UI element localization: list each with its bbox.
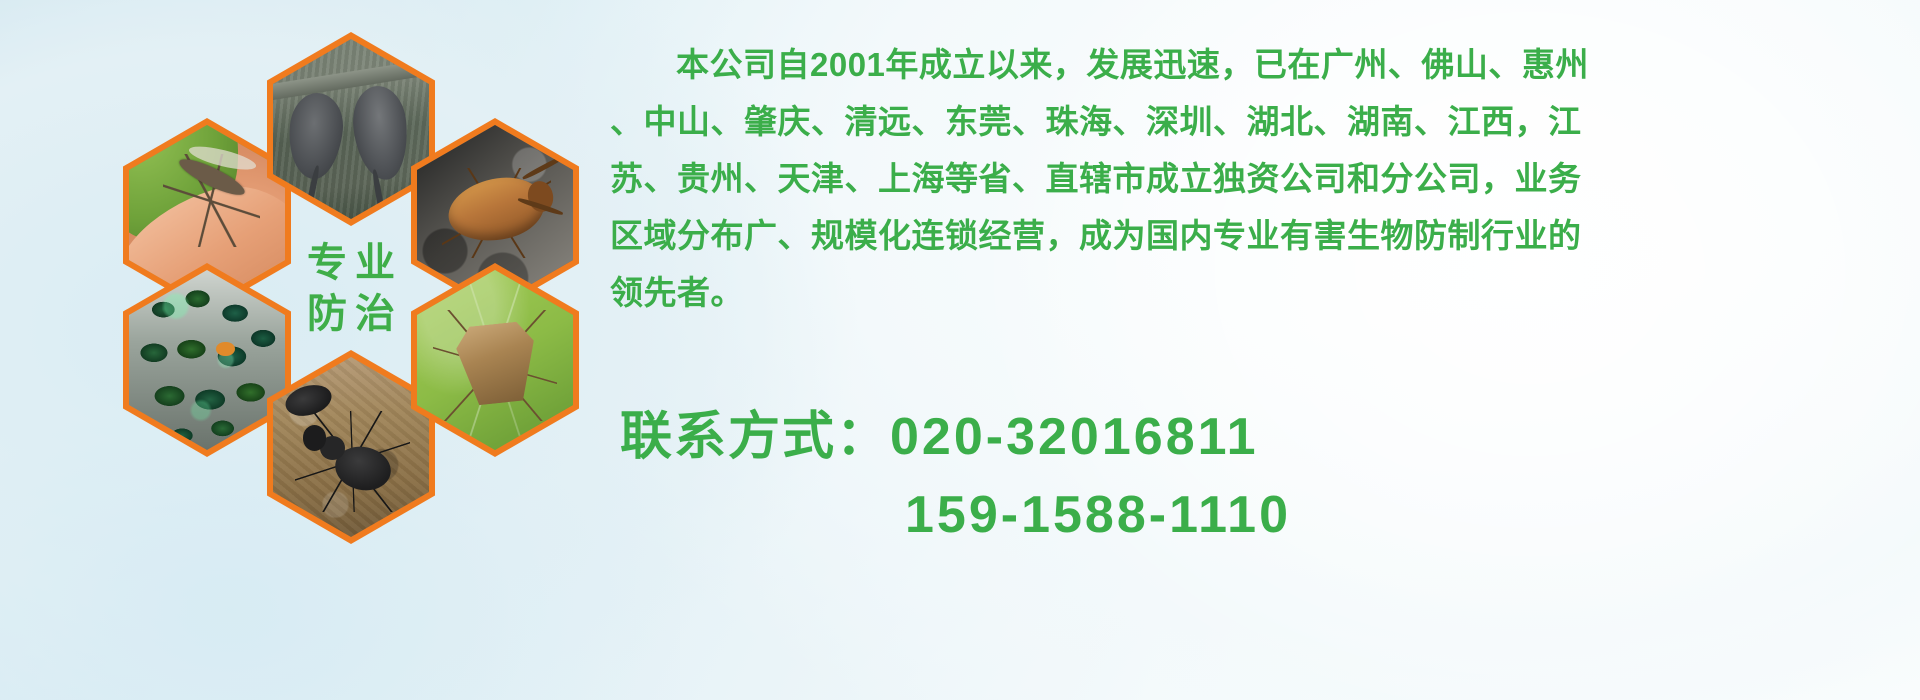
company-intro-paragraph: 本公司自2001年成立以来，发展迅速，已在广州、佛山、惠州 、中山、肇庆、清远、… xyxy=(610,36,1890,321)
hex-inner-stinkbug xyxy=(417,270,573,450)
honeycomb-image-cluster: 专业 防治 xyxy=(95,10,585,570)
stinkbug-icon xyxy=(417,270,573,450)
contact-secondary-row: 159-1588-1110 xyxy=(620,476,1900,554)
brand-badge-line1: 专业 xyxy=(299,242,403,285)
contact-primary-row: 联系方式：020-32016811 xyxy=(620,398,1900,476)
hex-cell-stinkbug[interactable] xyxy=(411,263,579,457)
fly-icon xyxy=(129,270,285,450)
promo-banner: 专业 防治 本公司自2001年成立以来，发展迅速，已在广州、佛山、惠州 、中山、… xyxy=(0,0,1920,700)
hex-cell-flies[interactable] xyxy=(123,263,291,457)
contact-block: 联系方式：020-32016811 159-1588-1110 xyxy=(620,398,1900,554)
fly-sheen xyxy=(129,270,285,450)
contact-label: 联系方式： xyxy=(620,408,890,466)
contact-phone-primary[interactable]: 020-32016811 xyxy=(890,408,1259,466)
intro-line-2: 、中山、肇庆、清远、东莞、珠海、深圳、湖北、湖南、江西，江 xyxy=(610,93,1890,150)
company-intro-block: 本公司自2001年成立以来，发展迅速，已在广州、佛山、惠州 、中山、肇庆、清远、… xyxy=(610,36,1890,321)
intro-line-5: 领先者。 xyxy=(610,264,1890,321)
intro-line-1: 本公司自2001年成立以来，发展迅速，已在广州、佛山、惠州 xyxy=(610,36,1890,93)
ant-head xyxy=(303,425,326,450)
hex-inner-flies xyxy=(129,270,285,450)
brand-badge-line2: 防治 xyxy=(299,293,403,336)
brand-badge: 专业 防治 xyxy=(267,192,435,386)
intro-line-4: 区域分布广、规模化连锁经营，成为国内专业有害生物防制行业的 xyxy=(610,207,1890,264)
intro-line-3: 苏、贵州、天津、上海等省、直辖市成立独资公司和分公司，业务 xyxy=(610,150,1890,207)
contact-phone-secondary[interactable]: 159-1588-1110 xyxy=(905,486,1291,544)
